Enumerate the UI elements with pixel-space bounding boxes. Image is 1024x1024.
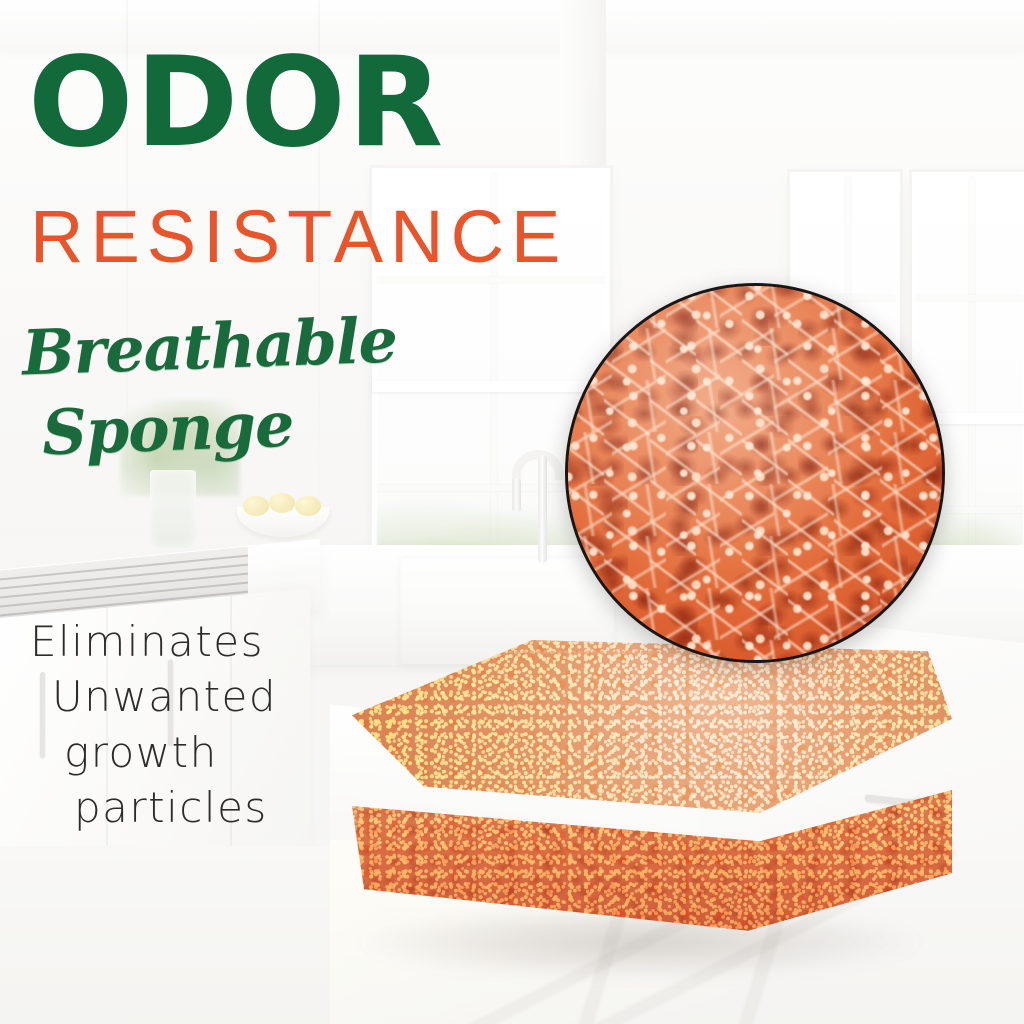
headline-resistance: RESISTANCE	[30, 200, 567, 274]
marketing-copy: ODOR RESISTANCE Breathable Sponge Elimin…	[0, 0, 1024, 1024]
benefit-line-4: particles	[30, 780, 350, 835]
benefit-text-block: Eliminates Unwanted growth particles	[30, 614, 350, 836]
script-subtitle-breathable: Breathable	[21, 303, 398, 389]
script-subtitle-sponge: Sponge	[41, 388, 295, 470]
benefit-line-2: Unwanted	[30, 669, 350, 724]
headline-odor: ODOR	[28, 46, 445, 160]
benefit-line-3: growth	[30, 725, 350, 780]
benefit-line-1: Eliminates	[30, 614, 350, 669]
product-marketing-image: ODOR RESISTANCE Breathable Sponge Elimin…	[0, 0, 1024, 1024]
